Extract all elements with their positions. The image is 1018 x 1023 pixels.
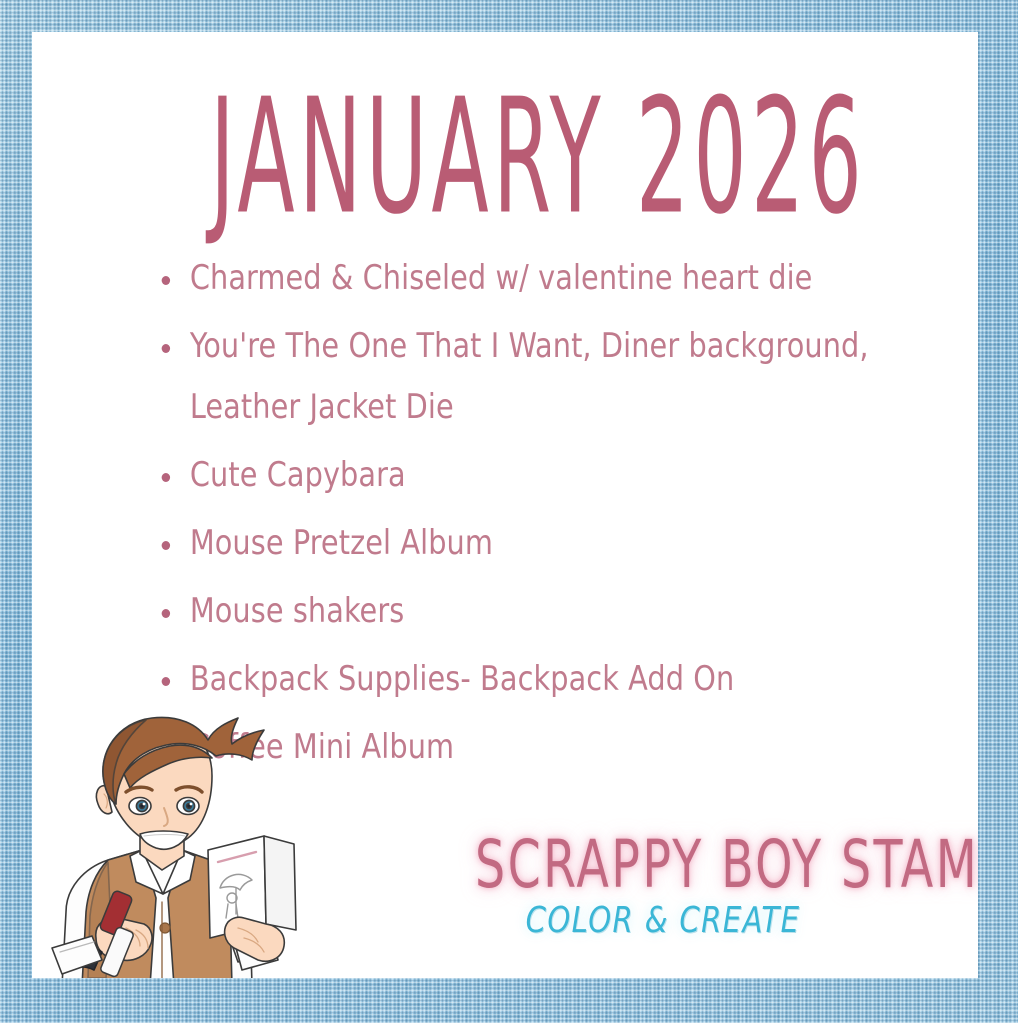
release-list: Charmed & Chiseled w/ valentine heart di… <box>156 248 946 785</box>
list-item: Mouse shakers <box>156 581 899 642</box>
brand-logo: SCRAPPY BOY STAMPS COLOR & CREATE <box>428 832 898 940</box>
list-item: Backpack Supplies- Backpack Add On <box>156 649 899 710</box>
mascot-illustration <box>32 716 332 978</box>
list-item: Mouse Pretzel Album <box>156 513 899 574</box>
brand-name: SCRAPPY BOY STAMPS <box>475 832 851 898</box>
brand-tagline: COLOR & CREATE <box>452 902 875 940</box>
list-item: Cute Capybara <box>156 445 899 506</box>
list-item: You're The One That I Want, Diner backgr… <box>156 316 899 438</box>
page-title: JANUARY 2026 <box>210 78 866 237</box>
list-item: Charmed & Chiseled w/ valentine heart di… <box>156 248 899 309</box>
white-card: JANUARY 2026 Charmed & Chiseled w/ valen… <box>32 32 978 978</box>
promo-graphic: JANUARY 2026 Charmed & Chiseled w/ valen… <box>0 0 1018 1023</box>
